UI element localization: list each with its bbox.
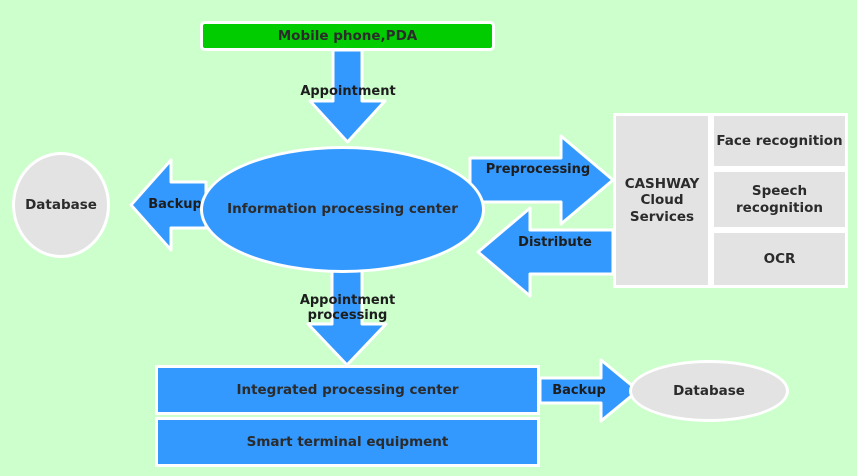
arrow-preprocessing: [470, 136, 613, 224]
cashway-line1: CASHWAY: [625, 176, 700, 192]
node-integrated-processing-center[interactable]: Integrated processing center: [155, 365, 540, 415]
arrow-label-appointment: Appointment: [278, 82, 418, 102]
arrow-label-appointment-processing-line2: processing: [308, 308, 388, 323]
arrow-label-preprocessing: Preprocessing: [483, 161, 593, 179]
arrow-label-backup-bottom: Backup: [548, 382, 610, 400]
arrow-label-distribute: Distribute: [500, 234, 610, 252]
node-database-bottom-right[interactable]: Database: [629, 360, 789, 422]
node-ocr[interactable]: OCR: [711, 230, 848, 288]
speech-recognition-line2: recognition: [736, 200, 823, 216]
node-speech-recognition[interactable]: Speech recognition: [711, 169, 848, 230]
diagram-canvas: Appointment Backup Preprocessing Distrib…: [0, 0, 857, 476]
node-information-processing-center[interactable]: Information processing center: [200, 146, 485, 273]
cashway-line3: Services: [630, 209, 694, 225]
arrow-label-appointment-processing: Appointment processing: [275, 290, 420, 326]
arrow-distribute: [478, 208, 613, 296]
node-smart-terminal-equipment[interactable]: Smart terminal equipment: [155, 417, 540, 467]
arrow-label-appointment-processing-line1: Appointment: [300, 293, 395, 308]
node-cashway-cloud-services[interactable]: CASHWAY Cloud Services: [613, 113, 711, 288]
node-database-left[interactable]: Database: [12, 152, 110, 258]
node-face-recognition[interactable]: Face recognition: [711, 113, 848, 169]
speech-recognition-line1: Speech: [752, 183, 807, 199]
cashway-line2: Cloud: [640, 192, 683, 208]
node-mobile-phone-pda[interactable]: Mobile phone,PDA: [200, 21, 495, 51]
